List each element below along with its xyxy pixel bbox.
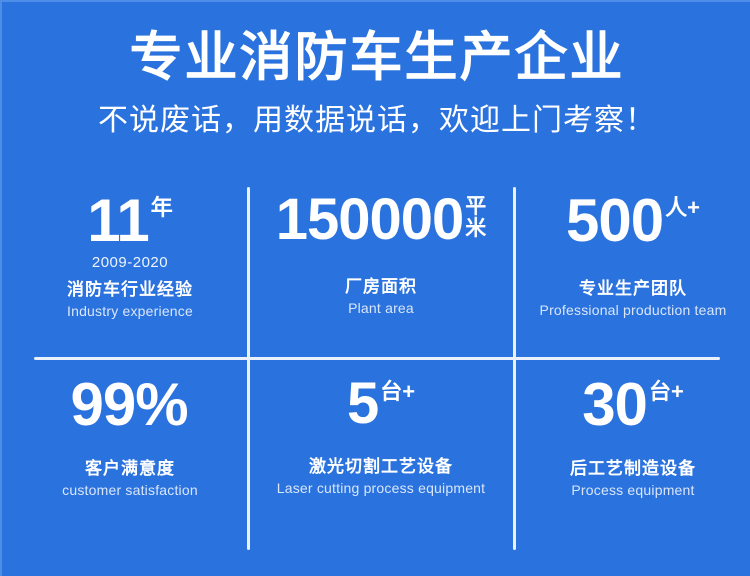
stat-unit-line-1: 平 [465, 196, 486, 218]
stat-label-cn: 后工艺制造设备 [514, 459, 750, 479]
stat-card-production-team: 500 人+ 专业生产团队 Professional production te… [514, 192, 750, 357]
stat-number: 150000 [276, 192, 464, 247]
stat-label-en: Laser cutting process equipment [248, 480, 514, 497]
stat-label-en: Process equipment [514, 482, 750, 499]
stat-label-en: Industry experience [12, 303, 248, 320]
stat-unit: 平 米 [463, 192, 486, 240]
stat-number: 99% [70, 376, 187, 433]
stat-number-row: 150000 平 米 [248, 192, 514, 247]
stat-label-cn: 消防车行业经验 [12, 280, 248, 300]
stat-number-row: 500 人+ [514, 192, 750, 249]
promo-banner: 专业消防车生产企业 不说废话，用数据说话，欢迎上门考察！ 11 年 2009-2… [0, 0, 750, 576]
stat-number-row: 99% [12, 376, 248, 433]
stat-unit: 台+ [378, 376, 415, 403]
stat-number: 500 [566, 192, 663, 249]
stat-number: 5 [347, 376, 378, 431]
stat-label-en: Plant area [248, 300, 514, 317]
stat-label-cn: 专业生产团队 [514, 279, 750, 299]
stat-unit: 年 [149, 192, 173, 219]
stat-number-row: 11 年 [12, 192, 248, 249]
grid-divider-horizontal [34, 357, 720, 360]
banner-header: 专业消防车生产企业 不说废话，用数据说话，欢迎上门考察！ [2, 2, 750, 137]
stat-number: 11 [87, 192, 148, 249]
stat-unit [188, 376, 190, 381]
stat-card-industry-experience: 11 年 2009-2020 消防车行业经验 Industry experien… [12, 192, 248, 357]
stat-card-laser-cutting-equipment: 5 台+ 激光切割工艺设备 Laser cutting process equi… [248, 376, 514, 541]
stat-number-row: 30 台+ [514, 376, 750, 433]
stat-unit: 人+ [663, 192, 700, 219]
stat-label-cn: 激光切割工艺设备 [248, 457, 514, 477]
stat-label-en: Professional production team [514, 302, 750, 319]
stat-number-row: 5 台+ [248, 376, 514, 431]
stats-grid: 11 年 2009-2020 消防车行业经验 Industry experien… [2, 178, 750, 554]
page-title: 专业消防车生产企业 [2, 2, 750, 86]
stat-card-customer-satisfaction: 99% 客户满意度 customer satisfaction [12, 376, 248, 541]
grid-divider-vertical-right [513, 187, 516, 550]
stat-card-plant-area: 150000 平 米 厂房面积 Plant area [248, 192, 514, 357]
page-subtitle: 不说废话，用数据说话，欢迎上门考察！ [2, 86, 750, 137]
grid-divider-vertical-left [247, 187, 250, 550]
stat-label-en: customer satisfaction [12, 482, 248, 499]
stat-unit-line-2: 米 [465, 218, 486, 240]
stat-card-process-equipment: 30 台+ 后工艺制造设备 Process equipment [514, 376, 750, 541]
stat-unit: 台+ [647, 376, 684, 403]
stat-label-cn: 厂房面积 [248, 277, 514, 297]
stat-year-range: 2009-2020 [12, 255, 248, 272]
stat-number: 30 [582, 376, 647, 433]
stat-label-cn: 客户满意度 [12, 459, 248, 479]
